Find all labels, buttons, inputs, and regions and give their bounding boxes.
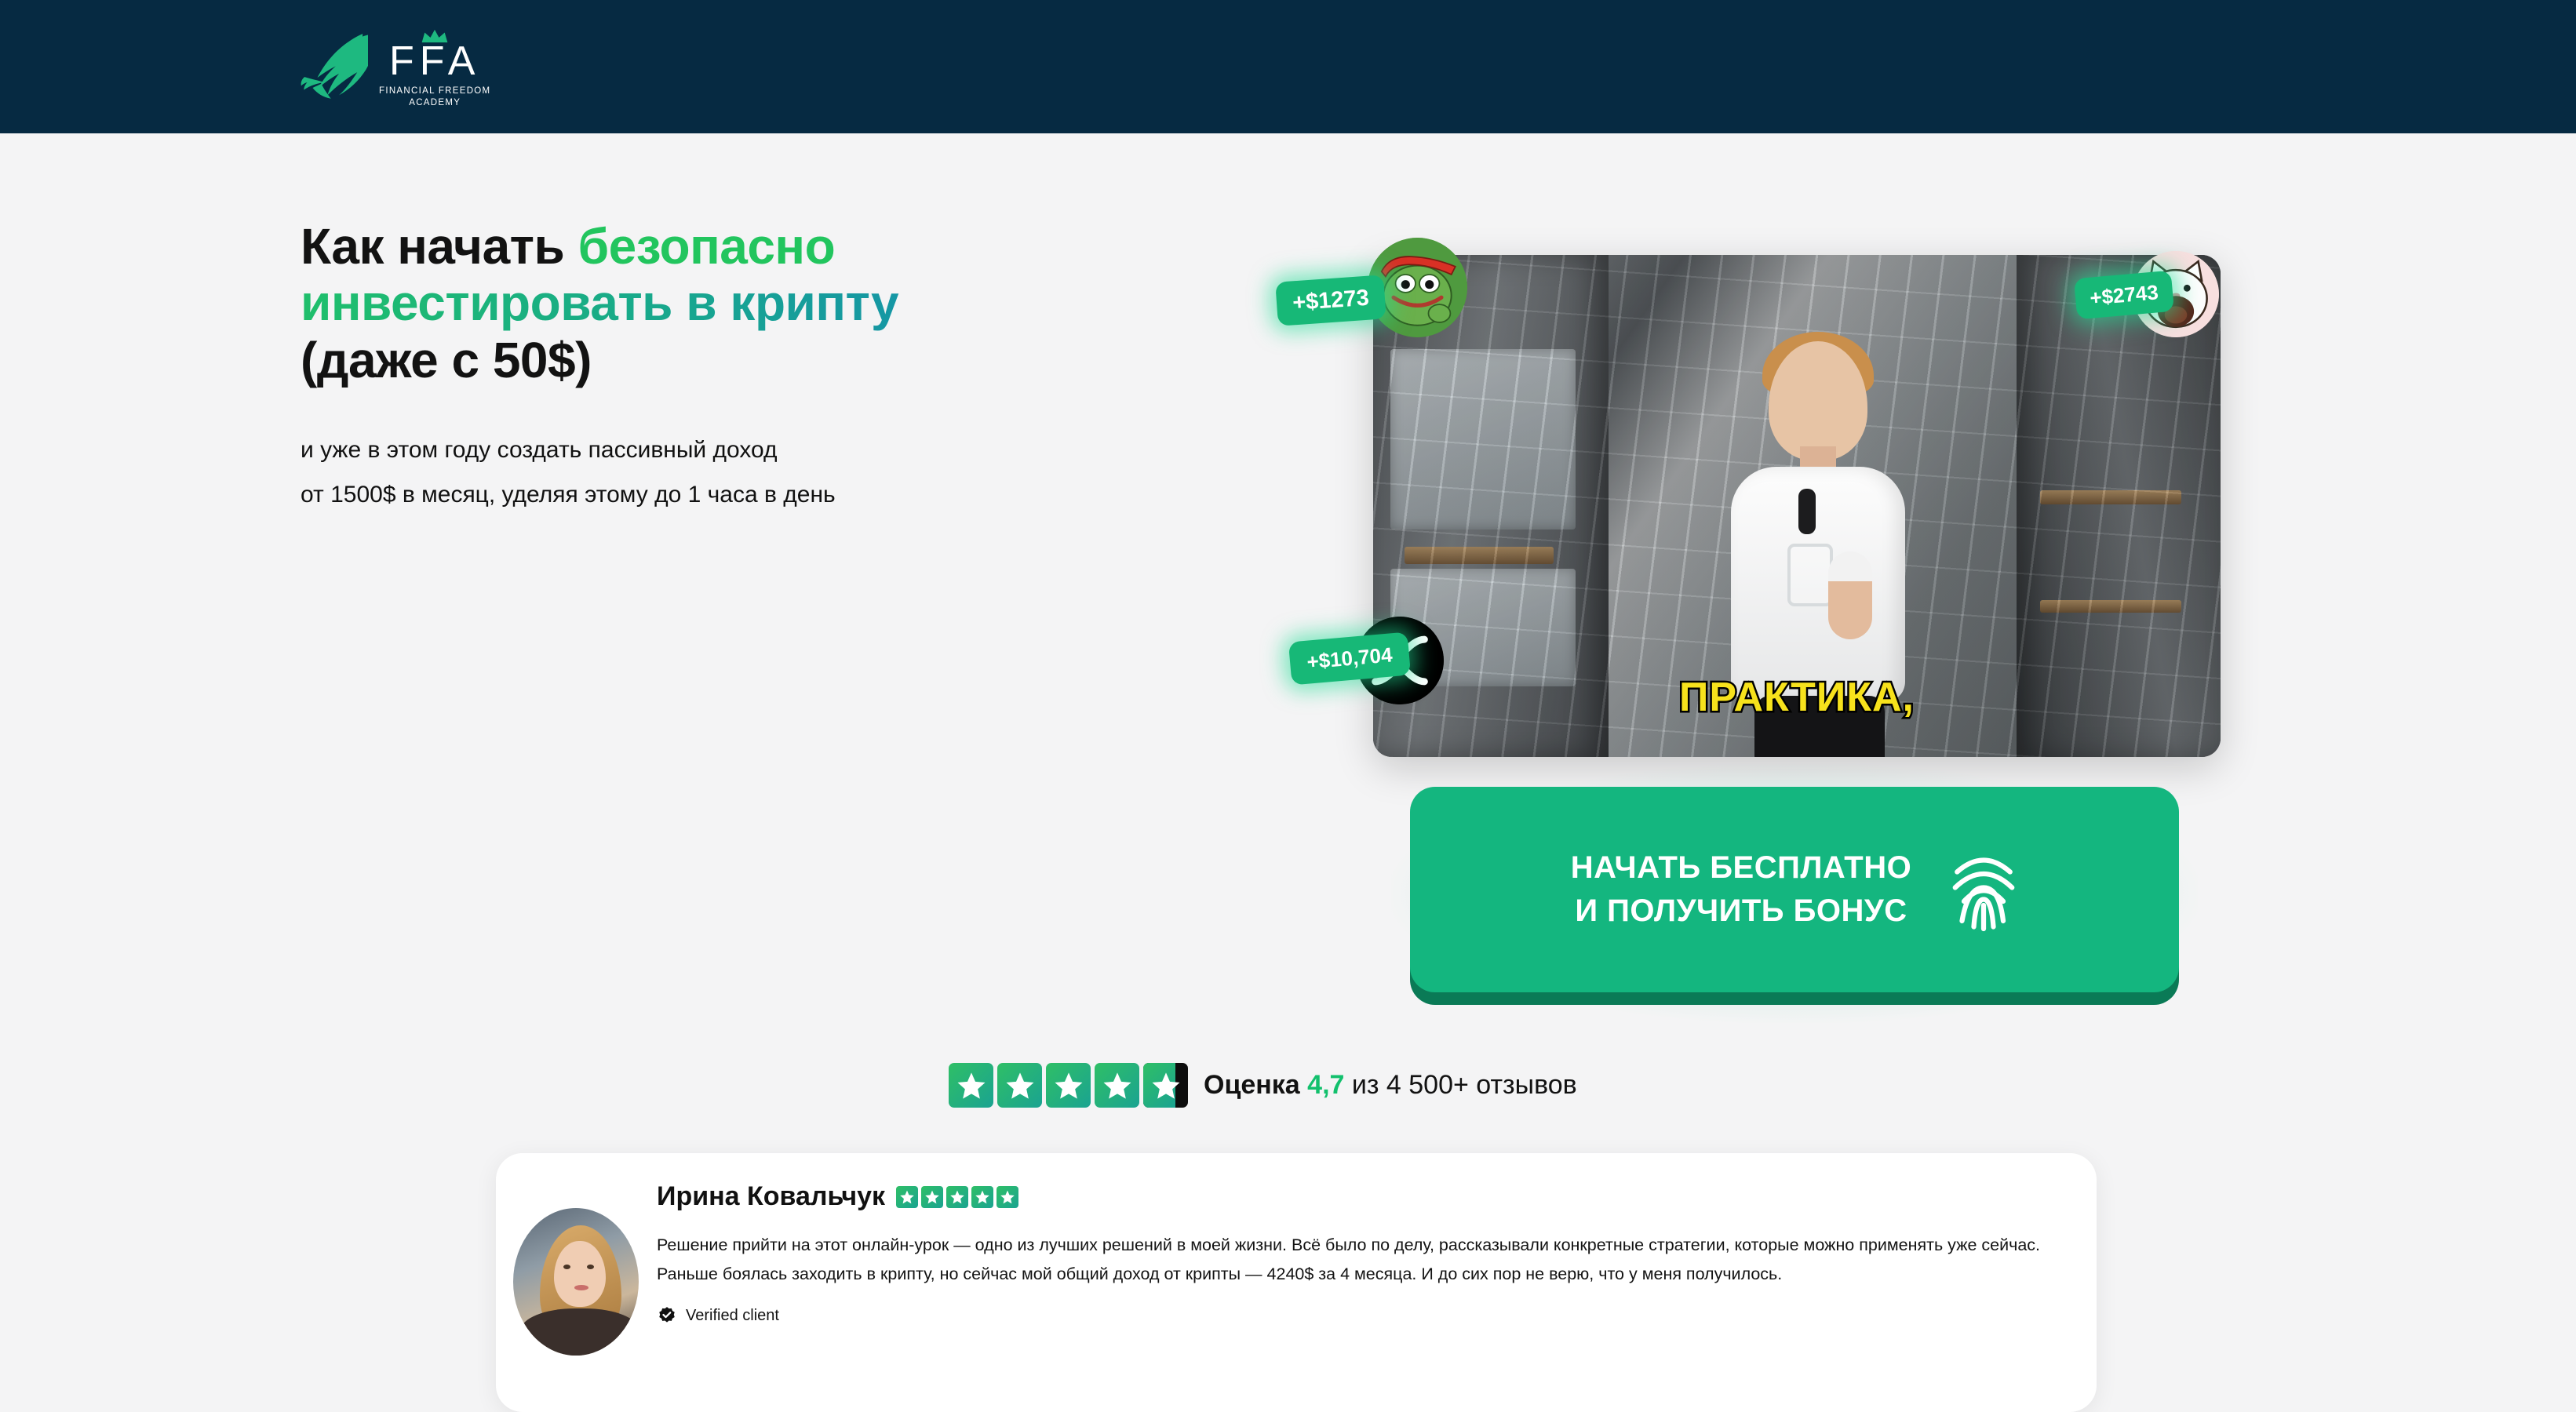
verified-label: Verified client — [686, 1307, 779, 1325]
rating-star-1 — [949, 1063, 993, 1108]
review-star-2 — [921, 1186, 943, 1208]
verified-badge-icon — [657, 1306, 677, 1326]
logo-tagline-line1: FINANCIAL FREEDOM — [379, 86, 490, 96]
rating-star-4 — [1095, 1063, 1139, 1108]
logo-tagline-line2: ACADEMY — [409, 98, 461, 107]
headline-line1-green: безопасно — [578, 218, 836, 275]
logo-brand-text: FFA — [389, 42, 480, 81]
review-author: Ирина Ковальчук — [657, 1181, 885, 1212]
hero-subheadline: и уже в этом году создать пассивный дохо… — [301, 428, 1093, 517]
review-star-4 — [971, 1186, 993, 1208]
cta-line1: НАЧАТЬ БЕСПЛАТНО — [1571, 846, 1911, 890]
subheadline-line2: от 1500$ в месяц, уделяя этому до 1 часа… — [301, 472, 1093, 517]
site-header: FFA FINANCIAL FREEDOM ACADEMY — [0, 0, 2576, 133]
start-free-button[interactable]: НАЧАТЬ БЕСПЛАТНО И ПОЛУЧИТЬ БОНУС — [1410, 787, 2179, 992]
rating-value: 4,7 — [1307, 1070, 1344, 1100]
cta-label: НАЧАТЬ БЕСПЛАТНО И ПОЛУЧИТЬ БОНУС — [1571, 846, 1911, 933]
rating-star-5-partial — [1143, 1063, 1188, 1108]
logo[interactable]: FFA FINANCIAL FREEDOM ACADEMY — [301, 28, 490, 107]
rating-star-2 — [997, 1063, 1042, 1108]
fingerprint-icon — [1949, 846, 2018, 933]
review-star-5 — [997, 1186, 1018, 1208]
video-caption: ПРАКТИКА, — [1373, 674, 2221, 721]
review-stars — [896, 1186, 1018, 1208]
review-star-3 — [946, 1186, 968, 1208]
rating-label: Оценка 4,7 из 4 500+ отзывов — [1204, 1070, 1577, 1101]
rating-star-3 — [1046, 1063, 1091, 1108]
hero-video-thumbnail[interactable]: ПРАКТИКА, — [1373, 255, 2221, 757]
review-body: Ирина Ковальчук Решение прийти на этот о… — [657, 1181, 2078, 1326]
headline-line1-dark: Как начать — [301, 218, 578, 275]
page-title: Как начать безопасно инвестировать в кри… — [301, 218, 1093, 388]
review-card: Ирина Ковальчук Решение прийти на этот о… — [496, 1153, 2097, 1412]
cta-line2: И ПОЛУЧИТЬ БОНУС — [1571, 890, 1911, 933]
eagle-wing-icon — [301, 30, 368, 107]
popcat-coin-badge: +$2743 — [2074, 271, 2174, 320]
review-text: Решение прийти на этот онлайн-урок — одн… — [657, 1231, 2061, 1289]
pepe-coin-badge: +$1273 — [1275, 275, 1386, 326]
cta-container: НАЧАТЬ БЕСПЛАТНО И ПОЛУЧИТЬ БОНУС — [1410, 787, 2179, 1010]
rating-suffix: из 4 500+ отзывов — [1352, 1070, 1577, 1100]
hero-copy: Как начать безопасно инвестировать в кри… — [301, 218, 1093, 517]
headline-line2: инвестировать в крипту — [301, 275, 1093, 331]
subheadline-line1: и уже в этом году создать пассивный дохо… — [301, 428, 1093, 472]
review-header: Ирина Ковальчук — [657, 1181, 2078, 1212]
rating-summary: Оценка 4,7 из 4 500+ отзывов — [949, 1063, 1577, 1108]
status-badge: Verified client — [657, 1306, 2078, 1326]
rating-stars — [949, 1063, 1188, 1108]
avatar — [513, 1208, 639, 1356]
review-star-1 — [896, 1186, 918, 1208]
headline-line3: (даже с 50$) — [301, 332, 1093, 388]
rating-prefix: Оценка — [1204, 1070, 1307, 1100]
